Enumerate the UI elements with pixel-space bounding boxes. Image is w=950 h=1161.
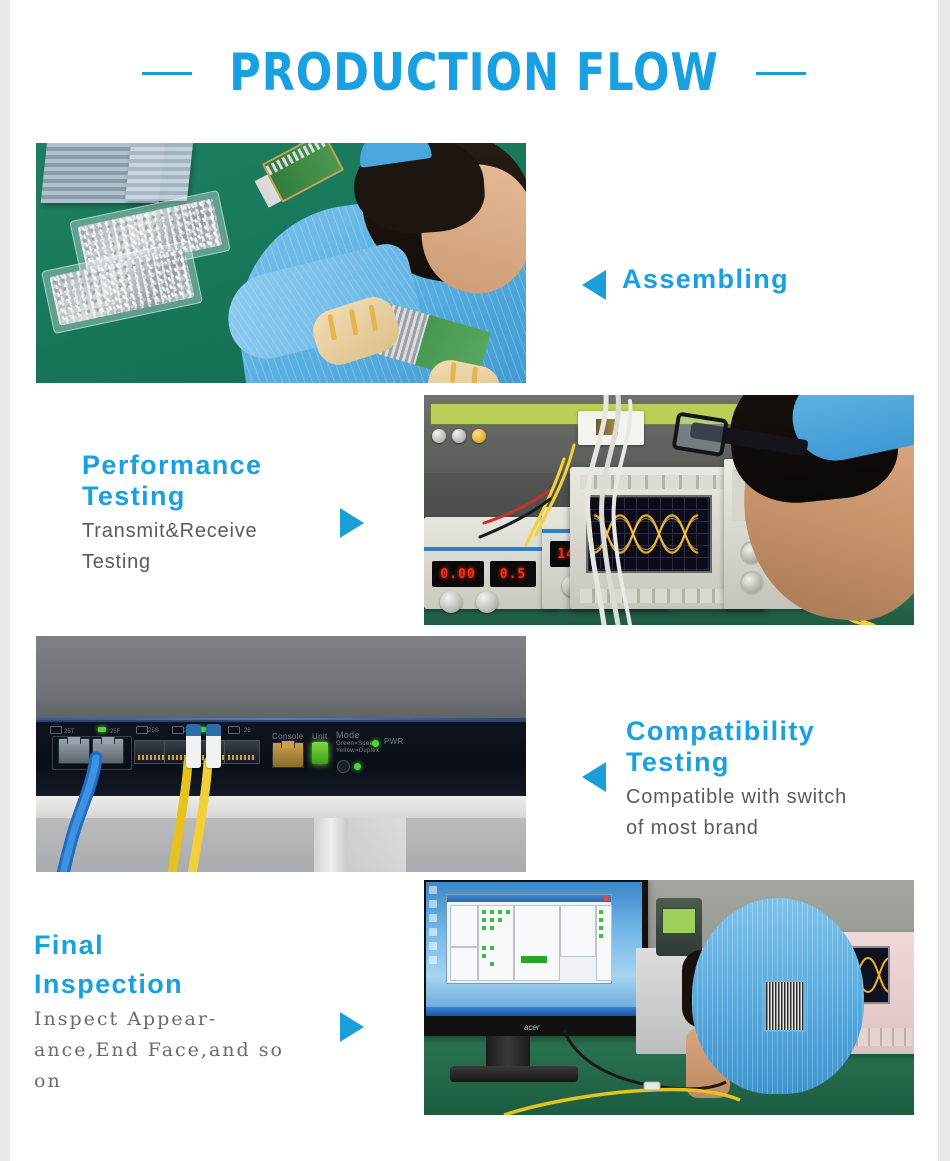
lc-connector-right: [206, 724, 221, 768]
final-inspection-arrow-right-triangle-icon: [340, 1012, 364, 1042]
measurement-panel: [514, 905, 560, 981]
control-panel: [560, 905, 596, 957]
mode-green-speed-label: Green=Speed: [336, 741, 377, 747]
compatibility-testing-photo: H3C H3C S3600V2 25T 25F 25S 26S 27 28 Co…: [36, 636, 526, 872]
desktop-icon: [429, 900, 437, 908]
windows-taskbar[interactable]: [426, 1007, 642, 1016]
desktop-icon: [429, 928, 437, 936]
switch-chassis-top: [36, 636, 526, 720]
unit-label: Unit: [312, 732, 327, 741]
status-ok-dot: [599, 910, 603, 914]
page-title: PRODUCTION FLOW: [229, 43, 718, 103]
performance-testing-caption: Performance Testing Transmit&Receive Tes…: [82, 450, 332, 578]
status-ok-dot: [482, 926, 486, 930]
final-inspection-title-line2: Inspection: [34, 969, 334, 1000]
lc-connector-left: [186, 724, 201, 768]
port-led-25f: [98, 727, 106, 732]
psu-left-voltage-display: 0.00: [432, 561, 484, 587]
yellow-fiber-patch-cords: [184, 762, 294, 872]
component-tray-lower: [41, 240, 203, 334]
status-ok-dot: [482, 954, 486, 958]
status-ok-dot: [490, 962, 494, 966]
desktop-icon: [429, 956, 437, 964]
params-panel: [450, 905, 478, 947]
assembling-title: Assembling: [622, 264, 789, 295]
sfp-port-28: [224, 740, 260, 764]
performance-testing-subtitle-line1: Transmit&Receive: [82, 516, 332, 547]
monitor-brand-logo: acer: [524, 1023, 540, 1032]
status-ok-dot: [599, 926, 603, 930]
multimeter-knob: [432, 429, 446, 443]
final-inspection-photo: acer: [424, 880, 914, 1115]
close-icon[interactable]: [604, 896, 610, 901]
esd-cap-mesh-patch: [764, 980, 806, 1032]
compatibility-testing-title-line2: Testing: [626, 747, 926, 778]
blue-ethernet-cable: [74, 758, 134, 872]
performance-testing-photo: 0.00 0.5 14.0 0.49: [424, 395, 914, 625]
compatibility-testing-arrow-left-triangle-icon: [582, 762, 606, 792]
port-led-frame: [172, 726, 184, 734]
status-ok-dot: [490, 926, 494, 930]
status-ok-dot: [490, 910, 494, 914]
desktop-icon: [429, 886, 437, 894]
finger-cot-band: [349, 309, 358, 335]
test-software-window[interactable]: [446, 894, 612, 984]
production-flow-page: PRODUCTION FLOW Assembling Performanc: [10, 0, 938, 1161]
status-ok-dot: [498, 910, 502, 914]
handheld-power-meter: [656, 898, 702, 956]
port-label-28: 28: [244, 728, 251, 734]
port-led-frame: [228, 726, 240, 734]
multimeter-knob-yellow: [472, 429, 486, 443]
finger-cot-band: [327, 314, 336, 340]
port-label-25f: 25F: [110, 729, 120, 735]
assembling-caption: Assembling: [622, 264, 789, 295]
side-list-panel: [596, 905, 612, 981]
assembling-photo: [36, 143, 526, 383]
status-grid-panel: [478, 905, 514, 981]
bench-cables: [544, 1030, 764, 1115]
port-label-25t: 25T: [64, 729, 74, 735]
unit-id-display: [312, 742, 328, 764]
desk-leg: [314, 818, 348, 872]
port-led-frame: [136, 726, 148, 734]
psu-left-current-display: 0.5: [490, 561, 536, 587]
mode-led: [354, 763, 361, 770]
metal-pins-fill: [49, 248, 194, 326]
finger-cot-band: [369, 305, 378, 331]
performance-testing-title-line1: Performance: [82, 450, 332, 481]
desktop-icon: [429, 942, 437, 950]
status-ok-dot: [506, 910, 510, 914]
params-panel-2: [450, 947, 478, 981]
power-meter-display: [662, 908, 696, 934]
mode-button[interactable]: [337, 760, 350, 773]
window-titlebar: [447, 895, 611, 902]
monitor-screen: [426, 882, 642, 1016]
status-ok-dot: [482, 918, 486, 922]
performance-testing-arrow-right-triangle-icon: [340, 508, 364, 538]
psu-left-knob: [440, 591, 462, 613]
pwr-label: PWR: [384, 737, 404, 746]
status-ok-dot: [482, 910, 486, 914]
assembling-arrow-left-triangle-icon: [582, 270, 606, 300]
compatibility-testing-subtitle-line2: of most brand: [626, 813, 926, 844]
final-inspection-subtitle-line2: ance,End Face,and so: [34, 1035, 334, 1066]
final-inspection-title-line1: Final: [34, 930, 334, 961]
mode-yellow-duplex-label: Yellow=Duplex: [336, 748, 379, 754]
status-ok-dot: [490, 946, 494, 950]
mode-label: Mode: [336, 730, 360, 740]
final-inspection-subtitle-line1: Inspect Appear-: [34, 1004, 334, 1035]
pass-indicator-bar: [521, 956, 547, 963]
desktop-icon: [429, 914, 437, 922]
finger-cot-band: [450, 362, 456, 382]
title-left-rule: [142, 72, 192, 75]
final-inspection-subtitle-line3: on: [34, 1066, 334, 1097]
performance-testing-subtitle-line2: Testing: [82, 547, 332, 578]
page-title-bar: PRODUCTION FLOW: [10, 38, 938, 108]
psu-left-knob: [476, 591, 498, 613]
performance-testing-title-line2: Testing: [82, 481, 332, 512]
status-ok-dot: [482, 946, 486, 950]
port-label-25s: 25S: [148, 728, 159, 734]
status-ok-dot: [490, 918, 494, 922]
acer-monitor: acer: [424, 880, 648, 1036]
psu-left-stripe: [424, 547, 560, 551]
compatibility-testing-subtitle-line1: Compatible with switch: [626, 782, 926, 813]
compatibility-testing-caption: Compatibility Testing Compatible with sw…: [626, 716, 926, 844]
port-led-frame: [50, 726, 62, 734]
status-ok-dot: [599, 934, 603, 938]
pwr-led: [372, 740, 379, 747]
status-ok-dot: [599, 918, 603, 922]
final-inspection-caption: Final Inspection Inspect Appear- ance,En…: [34, 930, 334, 1097]
plastic-tray-stack-secondary-icon: [125, 143, 193, 201]
monitor-stand: [486, 1036, 530, 1068]
finger-cot-band: [471, 367, 477, 383]
title-right-rule: [756, 72, 806, 75]
compatibility-testing-title-line1: Compatibility: [626, 716, 926, 747]
multimeter-knob: [452, 429, 466, 443]
status-ok-dot: [498, 918, 502, 922]
